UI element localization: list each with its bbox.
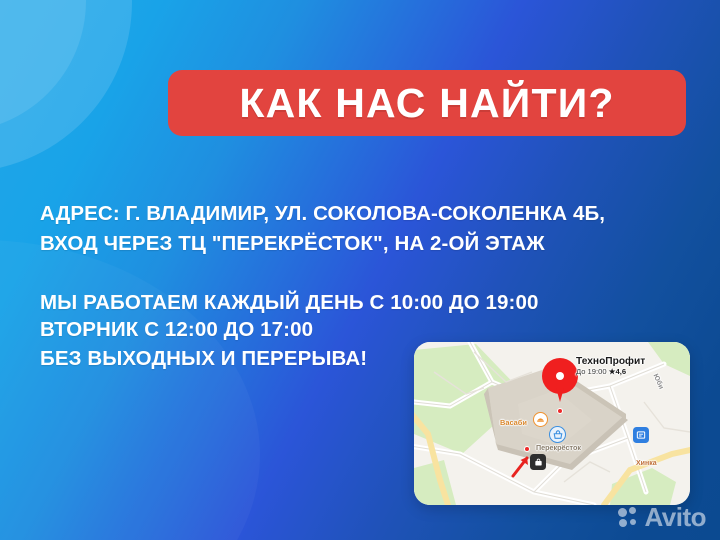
poster-canvas: КАК НАС НАЙТИ? АДРЕС: Г. ВЛАДИМИР, УЛ. С… [0,0,720,540]
avito-wordmark: Avito [644,504,706,530]
decorative-glow [0,240,260,540]
bag-glyph [534,458,543,467]
schedule-line-1: МЫ РАБОТАЕМ КАЖДЫЙ ДЕНЬ С 10:00 ДО 19:00 [40,290,538,316]
poi-callout: ТехноПрофит До 19:00 ★4,6 [576,356,645,377]
title-banner: КАК НАС НАЙТИ? [168,70,686,136]
map-pin-dot [556,372,564,380]
schedule-line-3: БЕЗ ВЫХОДНЫХ И ПЕРЕРЫВА! [40,346,367,372]
map-pin-icon[interactable] [542,358,578,404]
avito-logo-icon [618,507,639,528]
poi-hours: До 19:00 [576,367,607,376]
address-line-1: АДРЕС: Г. ВЛАДИМИР, УЛ. СОКОЛОВА-СОКОЛЕН… [40,201,605,227]
map-pin-tail [556,388,564,402]
schedule-line-2: ВТОРНИК С 12:00 ДО 17:00 [40,317,313,343]
poi-icon[interactable] [633,427,649,443]
basket-glyph [553,430,563,440]
poi-name: ТехноПрофит [576,356,645,367]
poi-rating: ★4,6 [609,367,626,376]
map-secondary-pin[interactable] [557,408,563,414]
address-line-2: ВХОД ЧЕРЕЗ ТЦ "ПЕРЕКРЁСТОК", НА 2-ОЙ ЭТА… [40,231,545,257]
food-glyph [536,415,545,424]
red-arrow-icon [510,454,532,478]
shopping-basket-icon[interactable] [549,426,566,443]
avito-watermark: Avito [618,504,706,530]
bag-icon[interactable] [530,454,546,470]
poi-glyph [636,430,646,440]
decorative-circle-large [0,0,132,172]
map-card[interactable]: ТехноПрофит До 19:00 ★4,6 Васаби Перекрё… [414,342,690,505]
decorative-circle-small [0,0,86,132]
map-secondary-pin[interactable] [524,446,530,452]
page-title: КАК НАС НАЙТИ? [239,83,614,124]
food-icon[interactable] [533,412,548,427]
poi-subline: До 19:00 ★4,6 [576,368,645,377]
